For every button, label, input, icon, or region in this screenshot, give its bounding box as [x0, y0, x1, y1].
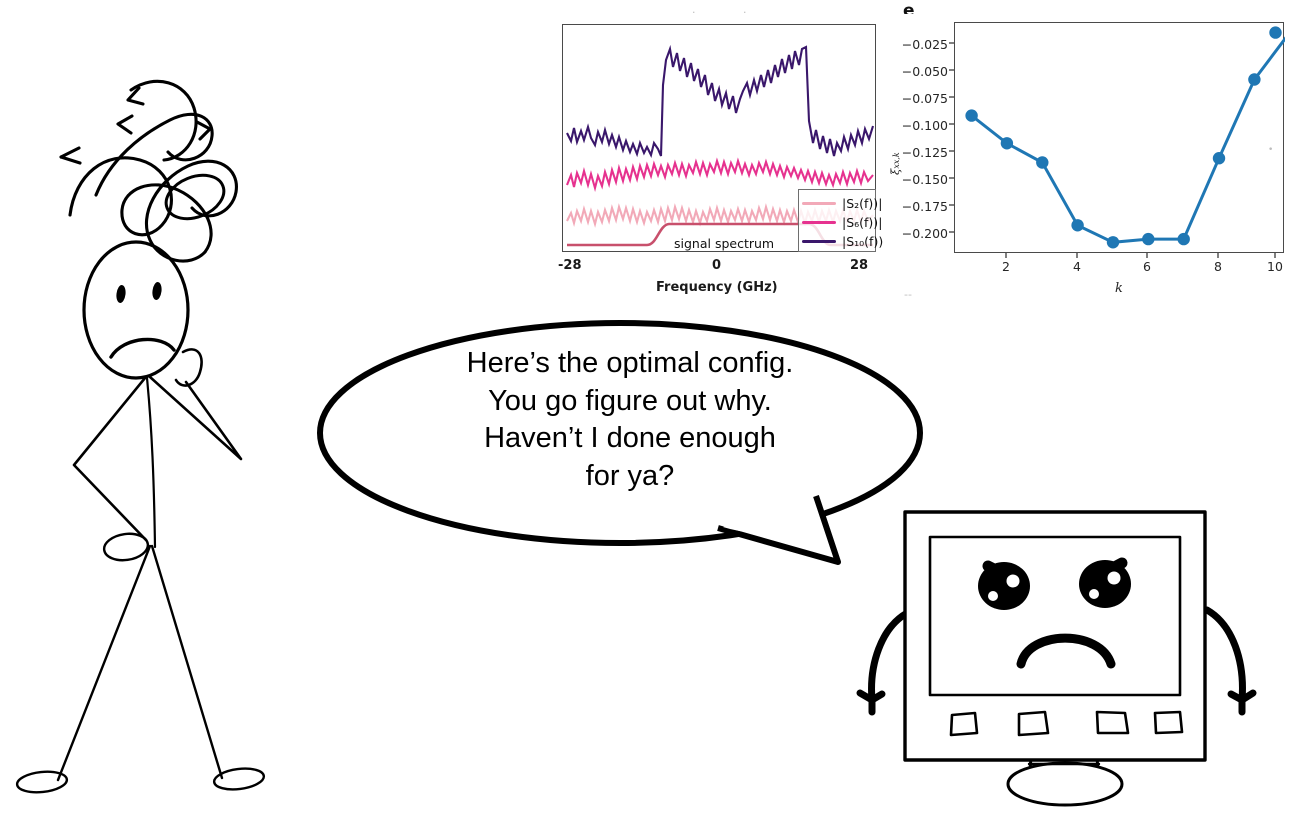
- computer-eyes: [978, 560, 1131, 610]
- legend-entry-s10: |S₁₀(f))|: [802, 234, 887, 249]
- xi-ytick-5: −0.150: [890, 172, 948, 187]
- bubble-line-1: Here’s the optimal config.: [380, 345, 880, 383]
- speech-bubble-tail: [718, 496, 838, 562]
- computer-bezel: [905, 512, 1205, 760]
- xi-ytick-6: −0.175: [890, 199, 948, 214]
- computer-eye-glints: [988, 572, 1121, 602]
- panel-letter-e: e: [903, 1, 915, 14]
- spectrum-xtick-min: -28: [558, 258, 582, 273]
- person-hip-loop: [102, 531, 149, 563]
- computer-buttons: [951, 712, 1182, 735]
- computer-right-arm: [1207, 610, 1242, 700]
- series-s6: [567, 161, 873, 188]
- xi-xtick-4: 4: [1060, 259, 1094, 274]
- legend-label-s2: |S₂(f))|: [842, 196, 882, 211]
- computer-stand-base: [1008, 763, 1122, 805]
- xi-axis-ticks: [946, 22, 1286, 272]
- person-right-arm: [150, 377, 241, 459]
- person-head: [84, 242, 188, 378]
- person-right-foot: [213, 766, 265, 792]
- legend-swatch-s2: [802, 202, 836, 205]
- legend-entry-s2: |S₂(f))|: [802, 196, 882, 211]
- computer-screen: [930, 537, 1180, 695]
- computer-left-hand: [860, 693, 882, 712]
- confusion-scribble: [61, 81, 236, 261]
- xi-ytick-2: −0.075: [890, 91, 948, 106]
- legend-label-signal-spectrum: signal spectrum: [674, 236, 774, 251]
- bottom-left-cut-mark: --: [904, 288, 912, 301]
- right-edge-cut-mark: •: [1268, 145, 1273, 155]
- xi-ytick-3: −0.100: [890, 118, 948, 133]
- spectrum-chart: · · |S₂(f))| |S₆(f))| |S₁₀(f))| signal s…: [552, 6, 874, 306]
- person-left-foot: [16, 769, 68, 794]
- legend-label-s6: |S₆(f))|: [842, 215, 882, 230]
- spectrum-xtick-zero: 0: [712, 258, 721, 273]
- xi-xtick-8: 8: [1201, 259, 1235, 274]
- computer-frown: [1021, 638, 1111, 664]
- computer-right-hand: [1231, 693, 1253, 712]
- person-right-leg: [152, 546, 222, 778]
- xi-xaxis-label: k: [1099, 281, 1139, 296]
- speech-bubble-text: Here’s the optimal config. You go figure…: [380, 345, 880, 496]
- series-s10: [567, 47, 873, 156]
- bubble-line-2: You go figure out why.: [380, 383, 880, 421]
- computer-eyebrows: [988, 563, 1122, 584]
- spectrum-xaxis-label: Frequency (GHz): [656, 280, 778, 295]
- person-torso: [147, 378, 155, 547]
- legend-swatch-s10: [802, 240, 836, 243]
- computer-button-1: [951, 713, 977, 735]
- chart-cut-marks-top: · ·: [692, 6, 769, 19]
- legend-label-s10: |S₁₀(f))|: [842, 234, 887, 249]
- person-ear: [176, 349, 202, 385]
- bubble-line-3: Haven’t I done enough: [380, 420, 880, 458]
- xi-xtick-10: 10: [1258, 259, 1292, 274]
- person-left-arm: [74, 378, 146, 540]
- computer-stand-neck: [1029, 758, 1099, 780]
- person-left-leg: [58, 546, 150, 780]
- legend-entry-s6: |S₆(f))|: [802, 215, 882, 230]
- xi-vs-k-chart: e ξxx,k −0.025 −0.050 −0.075 −0.100 −0.1…: [884, 0, 1303, 310]
- person-frown: [111, 339, 174, 357]
- xi-xtick-6: 6: [1130, 259, 1164, 274]
- bubble-line-4: for ya?: [380, 458, 880, 496]
- xi-ytick-4: −0.125: [890, 145, 948, 160]
- xi-ytick-7: −0.200: [890, 226, 948, 241]
- spectrum-xtick-max: 28: [850, 258, 868, 273]
- computer-button-4: [1155, 712, 1182, 733]
- computer-button-2: [1019, 712, 1048, 735]
- person-eyes: [115, 282, 162, 304]
- xi-ytick-0: −0.025: [890, 37, 948, 52]
- computer-button-3: [1097, 712, 1128, 733]
- computer-left-arm: [872, 613, 907, 700]
- legend-swatch-s6: [802, 221, 836, 224]
- xi-ytick-1: −0.050: [890, 64, 948, 79]
- xi-xtick-2: 2: [989, 259, 1023, 274]
